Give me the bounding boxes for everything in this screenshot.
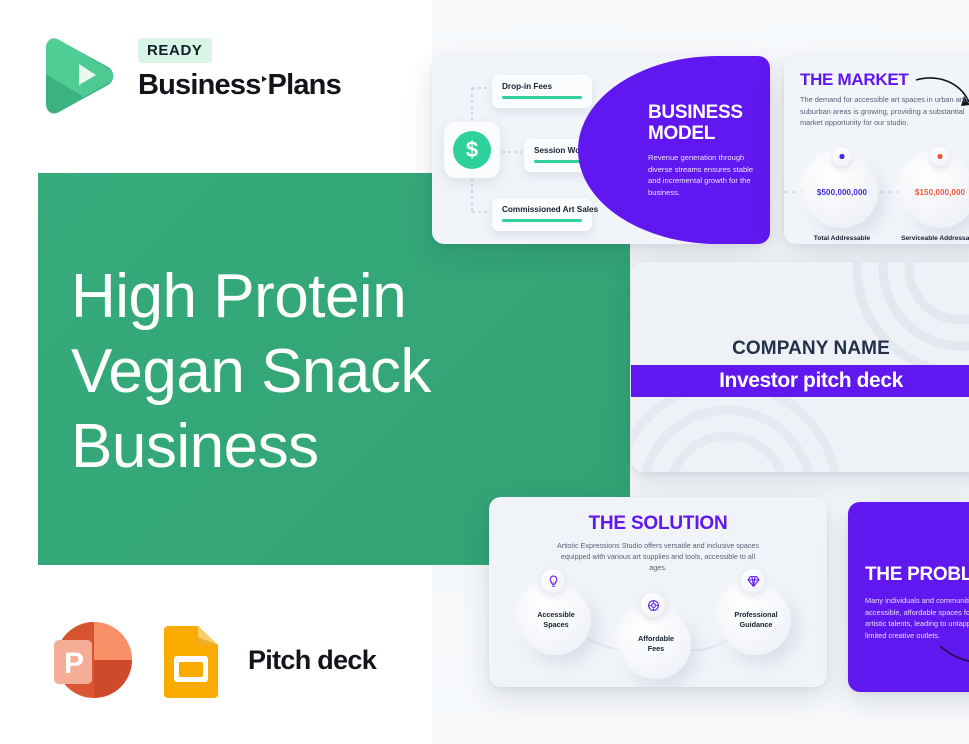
node-label: Professional Guidance	[734, 610, 777, 630]
brand-name-triangle-icon	[262, 76, 267, 82]
market-metric-tam[interactable]: $500,000,000 Total Addressable Market (T…	[806, 156, 878, 228]
diamond-icon	[741, 569, 765, 593]
slide-the-problem[interactable]: THE PROBLEM Many individuals and communi…	[848, 502, 969, 692]
slide-body: Many individuals and communities lack ac…	[865, 595, 969, 641]
item-underline	[502, 219, 582, 222]
metric-value: $150,000,000	[915, 188, 965, 197]
metric-value: $500,000,000	[817, 188, 867, 197]
solution-node-affordable-fees[interactable]: Affordable Fees	[621, 609, 691, 679]
play-triangle-logo-icon	[40, 34, 116, 118]
node-label: Accessible Spaces	[537, 610, 575, 630]
brand-name-part1: Business	[138, 69, 261, 101]
solution-node-professional-guidance[interactable]: Professional Guidance	[721, 585, 791, 655]
slide-company-name[interactable]: COMPANY NAME Investor pitch deck	[631, 262, 969, 472]
item-label: Drop-in Fees	[502, 82, 582, 91]
business-model-item[interactable]: Drop-in Fees	[492, 75, 592, 108]
brand-name: BusinessPlans	[138, 69, 341, 102]
metric-knob-icon	[833, 147, 852, 166]
ready-badge: READY	[138, 38, 212, 63]
lightbulb-icon	[541, 569, 565, 593]
metric-knob-icon	[931, 147, 950, 166]
poster-canvas: READY BusinessPlans High Protein Vegan S…	[0, 0, 969, 744]
metric-caption: Total Addressable Market (TAM)	[794, 234, 890, 244]
slide-heading: BUSINESS MODEL	[648, 102, 756, 144]
page-title: High Protein Vegan Snack Business	[71, 259, 431, 484]
slide-business-model[interactable]: $ Drop-in Fees Session Workshops Commiss…	[432, 56, 770, 244]
solution-node-accessible-spaces[interactable]: Accessible Spaces	[521, 585, 591, 655]
format-row: P Pitch deck	[42, 618, 376, 702]
brand-text-block: READY BusinessPlans	[138, 38, 341, 102]
item-underline	[502, 96, 582, 99]
brand-name-part2: Plans	[268, 69, 341, 101]
target-icon	[641, 593, 665, 617]
formats-label: Pitch deck	[248, 645, 376, 676]
node-label: Affordable Fees	[638, 634, 674, 654]
slide-body: Revenue generation through diverse strea…	[648, 152, 756, 198]
company-name: COMPANY NAME	[631, 338, 969, 360]
metric-caption: Serviceable Addressable Market (SAM)	[892, 234, 969, 244]
investor-pitch-label: Investor pitch deck	[719, 369, 903, 393]
dollar-circle-icon: $	[444, 122, 500, 178]
svg-text:P: P	[64, 647, 84, 680]
slide-the-solution[interactable]: THE SOLUTION Artistic Expressions Studio…	[489, 497, 827, 687]
brand-logo: READY BusinessPlans	[40, 34, 340, 122]
google-slides-icon	[160, 622, 222, 698]
item-label: Commissioned Art Sales	[502, 205, 582, 214]
business-model-item[interactable]: Commissioned Art Sales	[492, 198, 592, 231]
powerpoint-icon: P	[42, 618, 138, 702]
problem-curve-icon	[940, 642, 969, 682]
investor-pitch-band: Investor pitch deck	[631, 365, 969, 397]
slide-the-market[interactable]: THE MARKET The demand for accessible art…	[784, 56, 969, 244]
slide-heading: THE PROBLEM	[865, 564, 969, 586]
market-metric-sam[interactable]: $150,000,000 Serviceable Addressable Mar…	[904, 156, 969, 228]
